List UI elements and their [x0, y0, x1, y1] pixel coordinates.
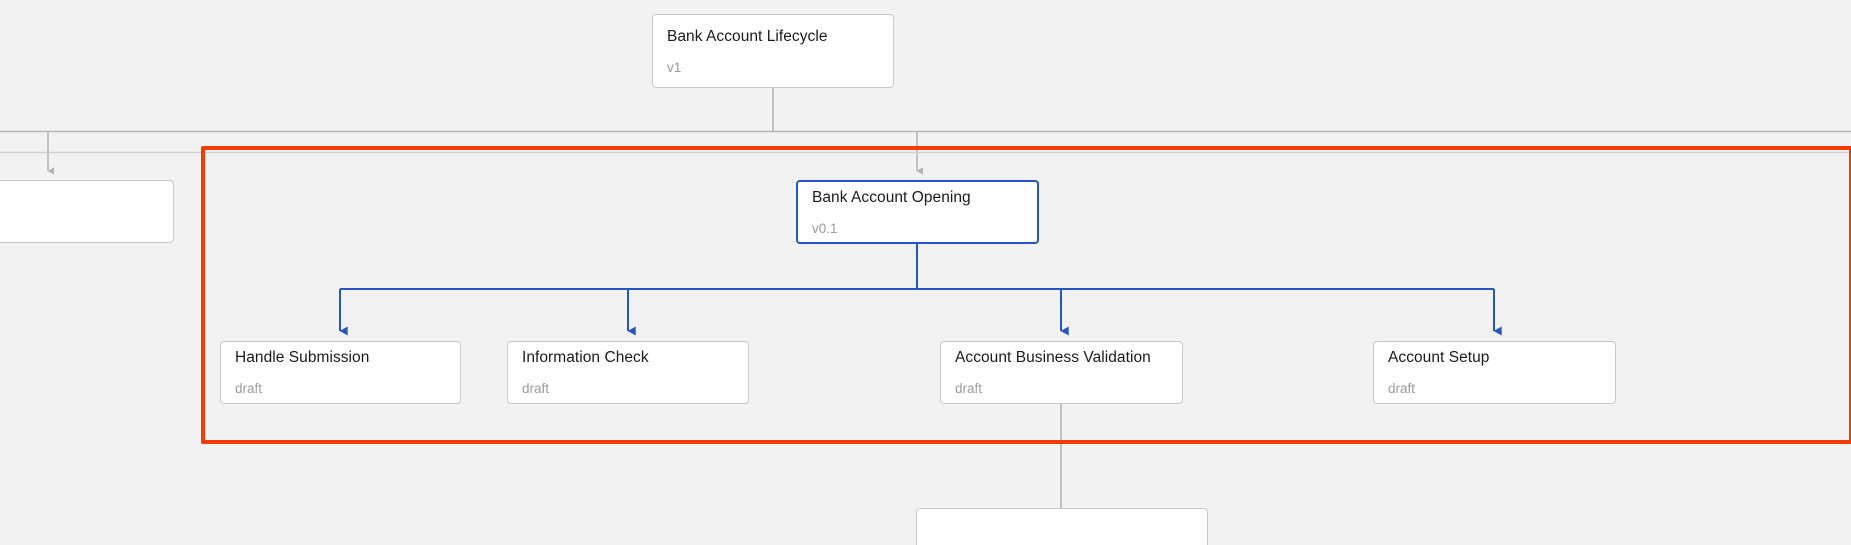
graph-node-bank-account-opening[interactable]: Bank Account Opening v0.1: [796, 180, 1039, 244]
gray-edges: [0, 88, 1851, 545]
graph-canvas[interactable]: Bank Account Lifecycle v1 Closure Bank A…: [0, 0, 1851, 545]
node-status-label: draft: [955, 381, 1168, 396]
node-title: Account Business Validation: [955, 349, 1168, 367]
node-title: Information Check: [522, 349, 734, 367]
graph-node-account-setup[interactable]: Account Setup draft: [1373, 341, 1616, 404]
graph-node-handle-submission[interactable]: Handle Submission draft: [220, 341, 461, 404]
graph-node-partial-offscreen[interactable]: [916, 508, 1208, 545]
edge-layer: [0, 0, 1851, 545]
node-version-label: v1: [667, 60, 879, 75]
node-title: Closure: [0, 196, 159, 214]
node-title: Bank Account Lifecycle: [667, 28, 879, 46]
graph-node-closure[interactable]: Closure: [0, 180, 174, 243]
node-title: Handle Submission: [235, 349, 446, 367]
blue-edges: [340, 244, 1494, 331]
node-version-label: v0.1: [812, 221, 1023, 236]
node-status-label: draft: [235, 381, 446, 396]
node-title: Account Setup: [1388, 349, 1601, 367]
graph-node-information-check[interactable]: Information Check draft: [507, 341, 749, 404]
graph-node-account-business-validation[interactable]: Account Business Validation draft: [940, 341, 1183, 404]
graph-node-bank-account-lifecycle[interactable]: Bank Account Lifecycle v1: [652, 14, 894, 88]
node-status-label: draft: [522, 381, 734, 396]
node-status-label: draft: [1388, 381, 1601, 396]
node-title: Bank Account Opening: [812, 189, 1023, 207]
